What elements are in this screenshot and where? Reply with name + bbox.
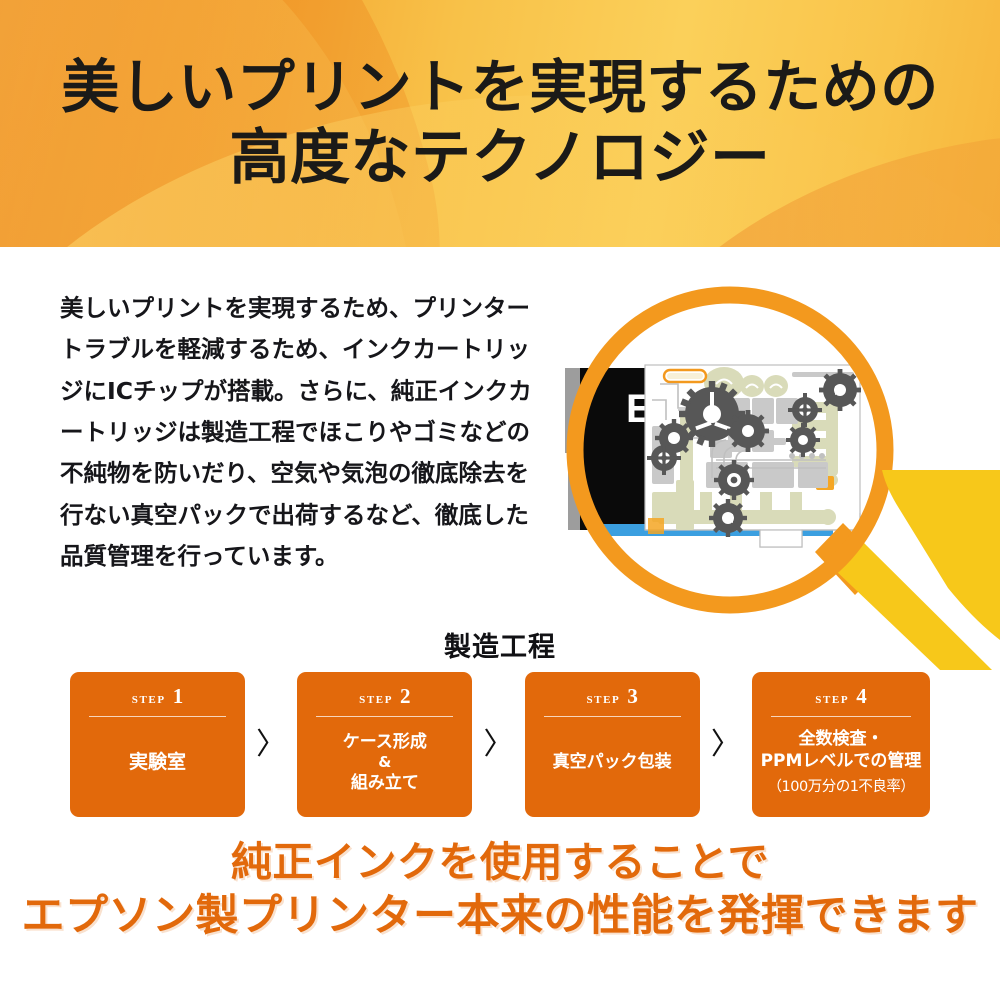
footer-line2: エプソン製プリンター本来の性能を発揮できます: [0, 892, 1000, 940]
step-title-1: 実験室: [129, 751, 186, 775]
step-header-3: STEP 3: [586, 686, 637, 707]
step-number-2: 2: [400, 686, 411, 707]
body-paragraph: 美しいプリントを実現するため、プリンタートラブルを軽減するため、インクカートリッ…: [60, 288, 540, 578]
step-amp-2: &: [378, 753, 391, 773]
footer-line1: 純正インクを使用することで: [0, 840, 1000, 886]
step-body-2: ケース形成 & 組み立て: [343, 717, 427, 809]
process-title: 製造工程: [0, 625, 1000, 664]
step-card-3[interactable]: STEP 3 真空パック包装: [525, 672, 700, 817]
step-label-3: STEP: [586, 694, 620, 706]
step-header-1: STEP 1: [132, 686, 183, 707]
poster-root: 美しいプリントを実現するための 高度なテクノロジー 美しいプリントを実現するため…: [0, 0, 1000, 1000]
step-header-2: STEP 2: [359, 686, 410, 707]
chevron-right-icon-3: 〉: [700, 672, 752, 817]
ic-chip-board-graphic: [645, 365, 861, 547]
step-card-2[interactable]: STEP 2 ケース形成 & 組み立て: [297, 672, 472, 817]
chevron-right-icon-1: 〉: [245, 672, 297, 817]
step-number-1: 1: [173, 686, 184, 707]
step-card-1[interactable]: STEP 1 実験室: [70, 672, 245, 817]
step-title-4: 全数検査・: [798, 729, 883, 750]
step-card-4[interactable]: STEP 4 全数検査・ PPMレベルでの管理 （100万分の1不良率）: [752, 672, 930, 817]
step-title-2: ケース形成: [343, 732, 427, 753]
step-number-4: 4: [856, 686, 867, 707]
cartridge-magnifier-illustration: EPSON: [540, 280, 1000, 670]
header-banner: 美しいプリントを実現するための 高度なテクノロジー: [0, 0, 1000, 247]
step-label-1: STEP: [132, 694, 166, 706]
footer-headline: 純正インクを使用することで エプソン製プリンター本来の性能を発揮できます: [0, 840, 1000, 940]
step-body-1: 実験室: [129, 717, 186, 809]
header-title-line1: 美しいプリントを実現するための: [61, 57, 939, 117]
step-header-4: STEP 4: [815, 686, 866, 707]
step-title-3: 真空パック包装: [553, 752, 672, 773]
process-steps: STEP 1 実験室 〉 STEP 2 ケース形成 & 組み立て 〉: [70, 672, 930, 817]
header-title-line2: 高度なテクノロジー: [230, 127, 771, 189]
step-note-4: （100万分の1不良率）: [768, 778, 915, 796]
step-title2-4: PPMレベルでの管理: [761, 751, 922, 772]
step-body-3: 真空パック包装: [553, 717, 672, 809]
step-label-2: STEP: [359, 694, 393, 706]
step-label-4: STEP: [815, 694, 849, 706]
step-title2-2: 組み立て: [351, 773, 419, 794]
step-body-4: 全数検査・ PPMレベルでの管理 （100万分の1不良率）: [761, 717, 922, 809]
chevron-right-icon-2: 〉: [472, 672, 524, 817]
step-number-3: 3: [627, 686, 638, 707]
